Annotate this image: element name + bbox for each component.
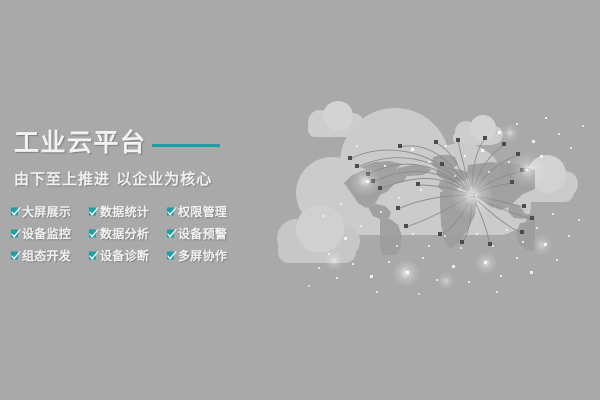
cloud-shapes [277,101,578,263]
check-box-icon [166,206,177,217]
feature-item-label: 设备监控 [22,225,71,242]
check-box-icon [166,228,177,239]
industrial-cloud-platform-banner: 工业云平台 由下至上推进 以企业为核心 大屏展示数据统计权限管理设备监控数据分析… [0,0,600,400]
feature-item: 设备诊断 [88,244,166,266]
check-box-icon [166,250,177,261]
sparkle-particles [308,117,584,295]
feature-item: 设备预警 [166,222,244,244]
feature-item-label: 多屏协作 [178,247,227,264]
feature-item-label: 权限管理 [178,203,227,220]
check-box-icon [10,206,21,217]
feature-item-label: 大屏展示 [22,203,71,220]
map-node-markers [348,136,534,246]
feature-item: 权限管理 [166,200,244,222]
feature-item-label: 组态开发 [22,247,71,264]
feature-item-label: 设备预警 [178,225,227,242]
feature-list: 大屏展示数据统计权限管理设备监控数据分析设备预警组态开发设备诊断多屏协作 [10,200,244,266]
feature-item-label: 数据统计 [100,203,149,220]
feature-item: 组态开发 [10,244,88,266]
check-box-icon [10,228,21,239]
feature-item: 设备监控 [10,222,88,244]
world-map [344,154,554,264]
title-underline-rule [152,144,220,147]
feature-item-label: 数据分析 [100,225,149,242]
title-row: 工业云平台 [14,130,220,155]
page-title: 工业云平台 [14,130,147,155]
promo-text-panel: 工业云平台 由下至上推进 以企业为核心 大屏展示数据统计权限管理设备监控数据分析… [0,118,250,278]
feature-item: 数据统计 [88,200,166,222]
subtitle: 由下至上推进 以企业为核心 [14,168,212,189]
cloud-world-map-illustration [240,85,600,315]
check-box-icon [88,228,99,239]
connection-arcs [350,139,532,245]
check-box-icon [88,206,99,217]
check-box-icon [88,250,99,261]
check-box-icon [10,250,21,261]
feature-item: 数据分析 [88,222,166,244]
feature-item-label: 设备诊断 [100,247,149,264]
feature-item: 多屏协作 [166,244,244,266]
glow-blooms [324,124,553,290]
feature-item: 大屏展示 [10,200,88,222]
